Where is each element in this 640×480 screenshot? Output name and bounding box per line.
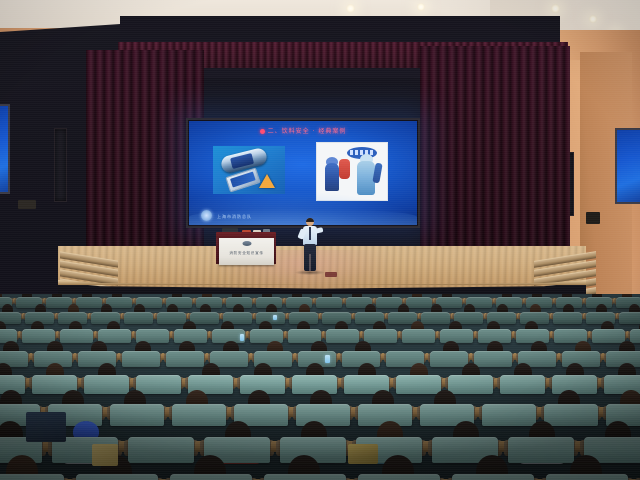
presenter xyxy=(299,218,321,272)
downlight-1 xyxy=(346,4,355,13)
slide-title-text: 二、饮料安全 · 经典案例 xyxy=(268,128,347,135)
left-side-display xyxy=(0,104,10,194)
auditorium-seat xyxy=(364,329,397,343)
slide-bullet-icon xyxy=(260,129,265,134)
auditorium-seat xyxy=(316,297,342,308)
stage-curtain-right xyxy=(420,46,570,278)
auditorium-seat xyxy=(421,312,450,324)
presenter-hair xyxy=(306,218,314,222)
auditorium-seat xyxy=(136,375,181,394)
raised-smartphone xyxy=(273,315,277,321)
downlight-3 xyxy=(551,4,560,13)
auditorium-seat xyxy=(619,312,640,324)
auditorium-seat xyxy=(482,404,536,426)
event-banner: 消防安全知识宣传 xyxy=(219,238,274,265)
auditorium-seat xyxy=(508,437,574,463)
floor-prop xyxy=(325,272,337,277)
raised-smartphone xyxy=(240,334,244,340)
auditorium-seat xyxy=(190,312,219,324)
auditorium-seat xyxy=(562,351,600,367)
auditorium-seat xyxy=(474,351,512,367)
auditorium-seat xyxy=(110,404,164,426)
auditorium-seat xyxy=(440,329,473,343)
backpack-navy xyxy=(26,412,66,442)
auditorium-seat xyxy=(546,474,628,480)
wall-speaker-left xyxy=(18,200,36,209)
auditorium-seat xyxy=(76,474,158,480)
auditorium-seat xyxy=(430,351,468,367)
presenter-tie xyxy=(309,227,311,240)
main-projection-screen: 二、饮料安全 · 经典案例 xyxy=(186,118,420,228)
auditorium-seat xyxy=(358,474,440,480)
downlight-2 xyxy=(417,3,425,11)
bag-olive xyxy=(348,444,378,464)
banner-logo-icon xyxy=(242,241,251,246)
slide-title-line: 二、饮料安全 · 经典案例 xyxy=(189,126,417,135)
auditorium-seat xyxy=(264,474,346,480)
auditorium-seat xyxy=(544,404,598,426)
auditorium-seat xyxy=(0,474,64,480)
auditorium-seat xyxy=(500,375,545,394)
slide-footer-text: 上海市消防总队 xyxy=(217,214,252,220)
acoustic-panel-left xyxy=(54,128,67,202)
raised-smartphone xyxy=(325,355,330,363)
right-side-display xyxy=(615,128,640,204)
auditorium-seat xyxy=(592,329,625,343)
banner-text: 消防安全知识宣传 xyxy=(219,251,274,256)
auditorium-seat xyxy=(406,297,432,308)
projection-screen-surface: 二、饮料安全 · 经典案例 xyxy=(189,121,417,225)
auditorium-seat xyxy=(448,375,493,394)
auditorium-seat xyxy=(630,329,640,343)
auditorium-seat xyxy=(326,329,359,343)
downlight-4 xyxy=(589,15,597,23)
auditorium-seat xyxy=(60,329,93,343)
auditorium-seat xyxy=(166,351,204,367)
auditorium-seat xyxy=(296,404,350,426)
audience-seating xyxy=(0,294,640,480)
bag-yellow xyxy=(92,444,118,466)
auditorium-photo: 二、饮料安全 · 经典案例 xyxy=(0,0,640,480)
auditorium-seat xyxy=(172,404,226,426)
slide-logo-emblem-icon xyxy=(201,210,212,221)
auditorium-seat xyxy=(516,329,549,343)
auditorium-seat xyxy=(553,312,582,324)
auditorium-seat xyxy=(124,312,153,324)
slide-bottle-label xyxy=(230,153,254,169)
cartoon-red-object xyxy=(339,159,350,179)
auditorium-seat xyxy=(402,329,435,343)
presenter-leg-gap xyxy=(309,254,311,271)
auditorium-seat xyxy=(157,312,186,324)
auditorium-seat xyxy=(128,437,194,463)
auditorium-seat xyxy=(76,297,102,308)
wall-speaker-right xyxy=(586,212,600,224)
auditorium-seat xyxy=(84,375,129,394)
auditorium-seat xyxy=(452,474,534,480)
auditorium-seat xyxy=(122,351,160,367)
auditorium-seat xyxy=(170,474,252,480)
auditorium-seat xyxy=(396,375,441,394)
